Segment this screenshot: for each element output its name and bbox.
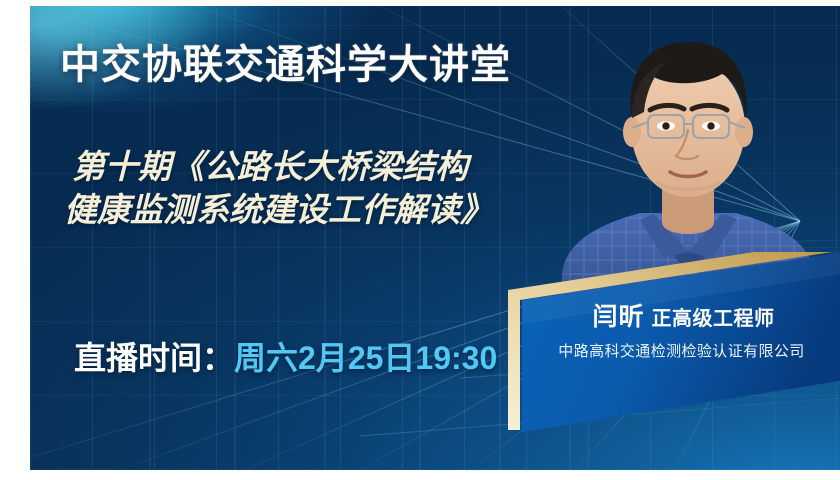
speaker-organization: 中路高科交通检测检验认证有限公司 xyxy=(524,340,839,361)
poster-frame: 中交协联交通科学大讲堂 第十期《公路长大桥梁结构 健康监测系统建设工作解读》 直… xyxy=(30,6,840,470)
poster-root: 中交协联交通科学大讲堂 第十期《公路长大桥梁结构 健康监测系统建设工作解读》 直… xyxy=(0,0,840,480)
episode-title: 第十期《公路长大桥梁结构 健康监测系统建设工作解读》 xyxy=(72,146,592,232)
speaker-name-row: 闫昕正高级工程师 xyxy=(530,297,837,333)
speaker-name: 闫昕 xyxy=(592,303,644,331)
live-time-row: 直播时间：周六2月25日19:30 xyxy=(74,333,497,379)
page-title: 中交协联交通科学大讲堂 xyxy=(60,32,511,90)
speaker-info-panel: 闫昕正高级工程师 中路高科交通检测检验认证有限公司 xyxy=(500,252,840,442)
episode-title-line-2: 健康监测系统建设工作解读》 xyxy=(64,189,592,232)
speaker-text-group: 闫昕正高级工程师 中路高科交通检测检验认证有限公司 xyxy=(500,252,840,442)
live-time-label: 直播时间： xyxy=(74,340,234,376)
episode-title-line-1: 第十期《公路长大桥梁结构 xyxy=(72,148,468,185)
speaker-role: 正高级工程师 xyxy=(652,308,775,330)
live-time-value: 周六2月25日19:30 xyxy=(234,340,497,376)
